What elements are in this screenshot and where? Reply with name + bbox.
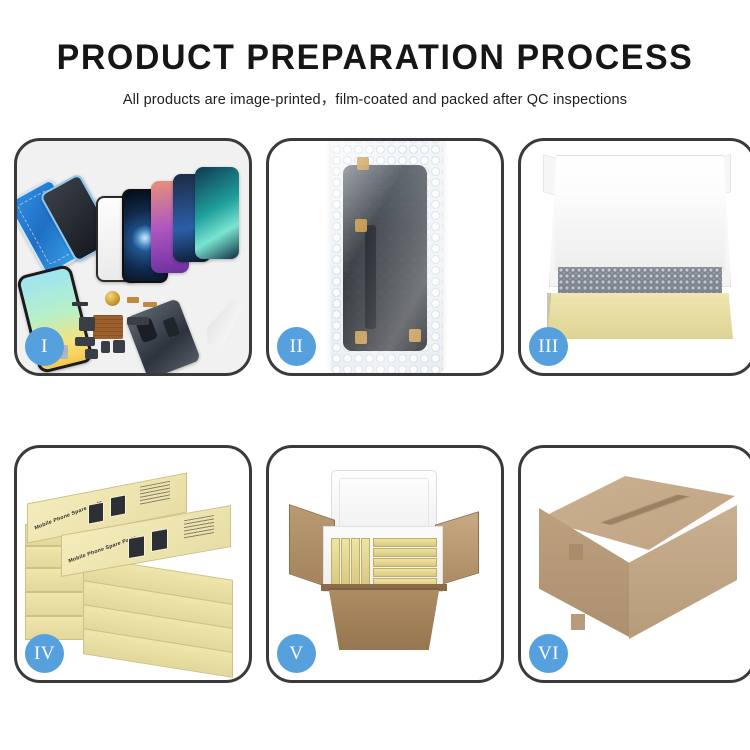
carton-tape-patch-icon bbox=[569, 544, 583, 560]
wrapped-screen-part-image bbox=[343, 165, 427, 351]
packed-retail-box bbox=[373, 548, 437, 557]
process-step-card-3[interactable]: III bbox=[518, 138, 750, 376]
taptic-part-icon bbox=[85, 349, 98, 359]
process-step-card-6[interactable]: VI bbox=[518, 445, 750, 683]
phone-back-housing-image bbox=[125, 298, 201, 373]
process-step-card-2[interactable]: II bbox=[266, 138, 504, 376]
box-window-screen-icon bbox=[110, 494, 126, 517]
step-badge-1: I bbox=[25, 327, 64, 366]
process-step-grid: I II bbox=[14, 138, 736, 683]
bracket-part-icon bbox=[79, 317, 95, 331]
small-part-icon bbox=[72, 302, 88, 306]
packed-retail-box bbox=[373, 538, 437, 547]
tape-tab-icon bbox=[355, 331, 367, 344]
box-spec-lines bbox=[140, 481, 170, 507]
connector-part-icon bbox=[127, 297, 139, 303]
box-window-screen-icon bbox=[128, 535, 145, 559]
process-step-card-5[interactable]: V bbox=[266, 445, 504, 683]
step-badge-4: IV bbox=[25, 634, 64, 673]
white-foam-sheet-image bbox=[555, 203, 725, 271]
tape-tab-icon bbox=[355, 219, 367, 232]
vibration-motor-part-icon bbox=[105, 291, 120, 306]
packed-retail-box bbox=[341, 538, 350, 586]
carton-front-image bbox=[325, 588, 443, 650]
page-subtitle: All products are image-printed，film-coat… bbox=[0, 88, 750, 109]
flex-cable-image bbox=[365, 225, 376, 329]
bubble-wrap-bag-image bbox=[331, 141, 443, 373]
ribbon-cable-part-icon bbox=[127, 317, 149, 325]
product-preparation-process-infographic: PRODUCT PREPARATION PROCESS All products… bbox=[0, 0, 750, 750]
camera-part-icon bbox=[113, 340, 125, 353]
process-step-card-1[interactable]: I bbox=[14, 138, 252, 376]
step-badge-3: III bbox=[529, 327, 568, 366]
step-badge-6: VI bbox=[529, 634, 568, 673]
page-title: PRODUCT PREPARATION PROCESS bbox=[11, 40, 739, 77]
header: PRODUCT PREPARATION PROCESS All products… bbox=[0, 0, 750, 109]
box-tray-front-image bbox=[547, 301, 733, 339]
packed-retail-box bbox=[351, 538, 360, 586]
box-window-screen-icon bbox=[151, 528, 168, 552]
retail-box-label: Mobile Phone Spare Parts bbox=[68, 535, 137, 565]
button-part-icon bbox=[101, 341, 110, 353]
logic-board-part-icon bbox=[93, 315, 123, 339]
flex-connector-part-icon bbox=[143, 302, 157, 307]
carton-tape-patch-icon bbox=[571, 614, 585, 630]
speaker-part-icon bbox=[75, 337, 95, 346]
packed-retail-box bbox=[373, 558, 437, 567]
tweezers-tool-image bbox=[207, 301, 247, 345]
process-step-card-4[interactable]: Mobile Phone Spare Parts Mobile Phone Sp… bbox=[14, 445, 252, 683]
packed-retail-box bbox=[361, 538, 370, 586]
tape-tab-icon bbox=[409, 329, 421, 342]
box-window-screen-icon bbox=[88, 502, 104, 525]
packed-retail-box bbox=[373, 568, 437, 577]
packed-retail-box bbox=[331, 538, 340, 586]
step-badge-5: V bbox=[277, 634, 316, 673]
tape-tab-icon bbox=[357, 157, 369, 170]
step-badge-2: II bbox=[277, 327, 316, 366]
phone-display-teal-image bbox=[195, 167, 239, 259]
box-spec-lines bbox=[184, 515, 214, 540]
